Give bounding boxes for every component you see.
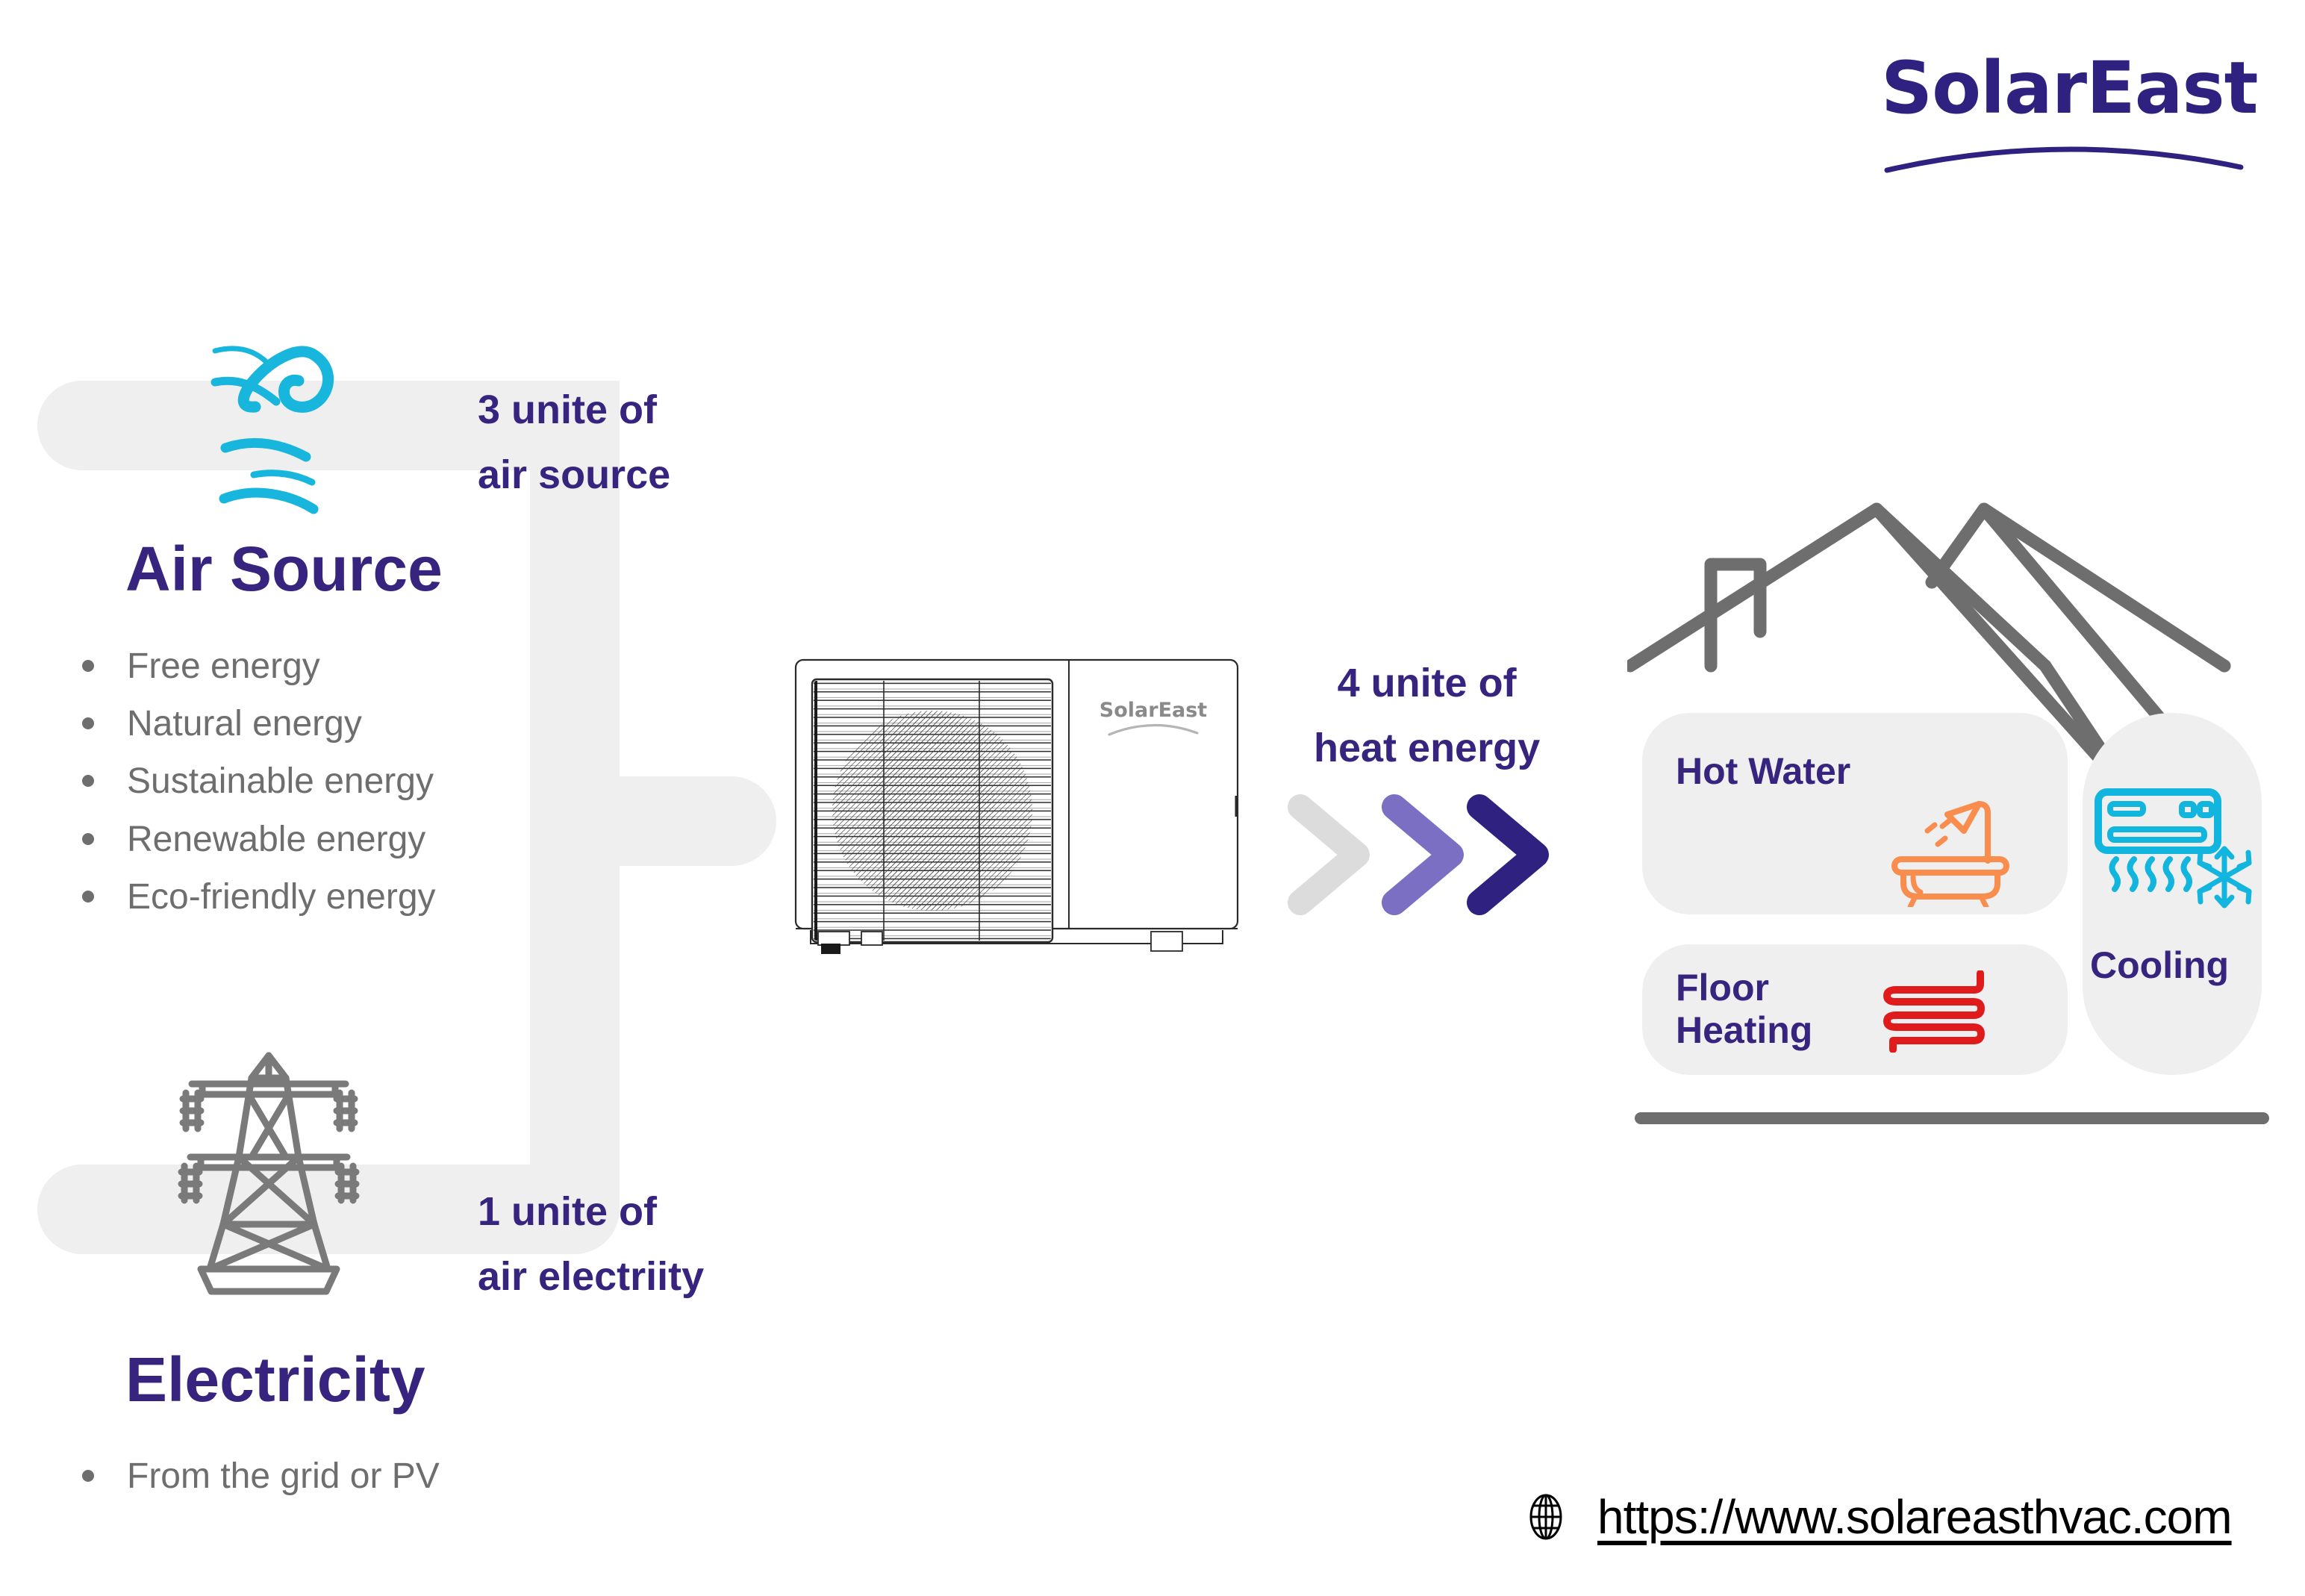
heat-output-quantity-label: 4 unite of heat energy [1314,651,1540,782]
list-item: Natural energy [82,699,649,749]
hot-water-label: Hot Water [1676,750,1850,793]
footer-website[interactable]: https://www.solareasthvac.com [1523,1489,2232,1544]
list-item-label: Renewable energy [127,815,425,864]
electricity-title: Electricity [125,1344,425,1416]
bullet-dot-icon [82,775,94,787]
bullet-dot-icon [82,1470,94,1482]
electricity-quantity-line1: 1 unite of [478,1179,704,1244]
heat-output-line1: 4 unite of [1314,651,1540,716]
ground-line [1635,1112,2269,1124]
electricity-quantity-line2: air electriity [478,1244,704,1309]
power-pylon-icon [168,1045,369,1299]
floor-heating-line1: Floor [1676,967,1812,1009]
floor-heating-line2: Heating [1676,1009,1812,1052]
brand-logo-arc [1881,128,2247,173]
brand-logo-text: SolarEast [1881,52,2247,124]
cooling-label: Cooling [2090,944,2229,987]
heat-output-line2: heat energy [1314,716,1540,781]
list-item-label: Natural energy [127,699,362,749]
list-item-label: Sustainable energy [127,757,434,806]
list-item: Sustainable energy [82,757,649,806]
list-item: Renewable energy [82,815,649,864]
chevron-2-icon [1394,807,1451,903]
bullet-dot-icon [82,660,94,672]
list-item-label: Eco-friendly energy [127,873,436,922]
website-url-link[interactable]: https://www.solareasthvac.com [1597,1489,2232,1544]
air-conditioner-snowflake-icon [2094,788,2254,914]
list-item: Eco-friendly energy [82,873,649,922]
air-source-title: Air Source [125,533,443,605]
heat-pump-unit-illustration: SolarEast [793,657,1241,956]
brand-logo: SolarEast [1881,52,2247,172]
bullet-dot-icon [82,891,94,903]
electricity-quantity-label: 1 unite of air electriity [478,1179,704,1310]
list-item: From the grid or PV [82,1452,649,1501]
electricity-bullet-list: From the grid or PV [82,1452,649,1509]
air-source-bullet-list: Free energy Natural energy Sustainable e… [82,642,649,930]
wind-swirl-icon [172,299,396,523]
air-source-quantity-line1: 3 unite of [478,378,670,443]
bathtub-shower-icon [1888,795,2030,907]
bullet-dot-icon [82,717,94,729]
bullet-dot-icon [82,833,94,845]
air-source-quantity-label: 3 unite of air source [478,378,670,508]
floor-heating-label: Floor Heating [1676,967,1812,1052]
air-source-quantity-line2: air source [478,443,670,508]
chevron-3-icon [1479,807,1536,903]
globe-icon [1523,1494,1569,1540]
list-item: Free energy [82,642,649,691]
list-item-label: From the grid or PV [127,1452,440,1501]
list-item-label: Free energy [127,642,320,691]
floor-coil-icon [1881,970,1993,1053]
energy-flow-chevrons [1284,788,1597,922]
chevron-1-icon [1300,807,1357,903]
unit-brand-text: SolarEast [1100,699,1208,722]
